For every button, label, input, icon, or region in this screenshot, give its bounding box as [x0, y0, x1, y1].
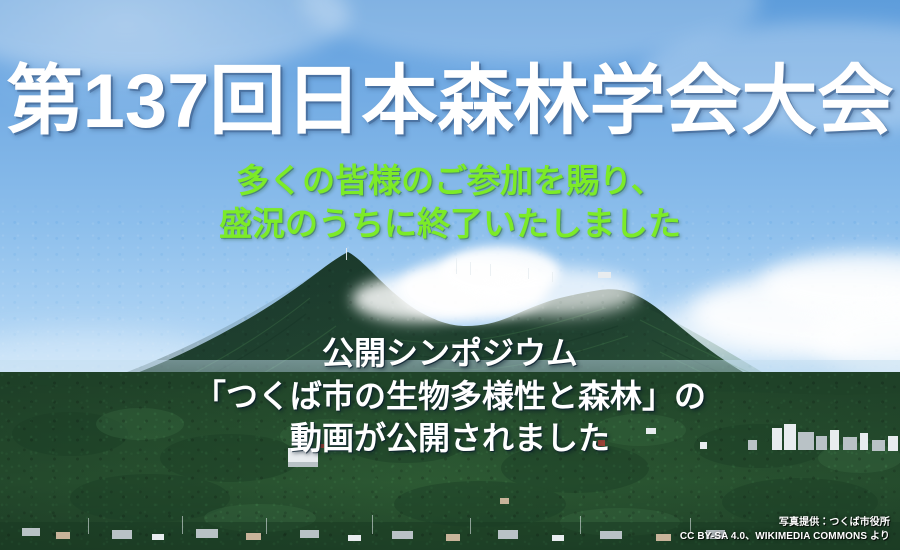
utility-pole-icon [266, 518, 267, 534]
house-roof [392, 531, 413, 539]
symposium-notice-line-2: 「つくば市の生物多様性と森林」の [0, 375, 900, 418]
house-roof [152, 534, 164, 540]
house-roof [656, 534, 671, 541]
conference-banner: 第137回日本森林学会大会 多くの皆様のご参加を賜り、 盛況のうちに終了いたしま… [0, 0, 900, 550]
utility-pole-icon [182, 516, 183, 534]
house-roof [498, 530, 518, 539]
house-roof [300, 530, 319, 538]
house-roof [56, 532, 70, 539]
house-roof [348, 535, 361, 541]
closing-notice: 多くの皆様のご参加を賜り、 盛況のうちに終了いたしました [0, 160, 900, 246]
closing-notice-line-2: 盛況のうちに終了いたしました [0, 203, 900, 246]
photo-credit: 写真提供：つくば市役所 CC BY-SA 4.0、WIKIMEDIA COMMO… [680, 516, 890, 544]
utility-pole-icon [580, 516, 581, 534]
institute-building-base [288, 462, 318, 467]
utility-pole-icon [470, 518, 471, 534]
utility-pole-icon [372, 515, 373, 534]
house-roof [22, 528, 40, 536]
house-roof [552, 535, 564, 541]
house-roof [112, 530, 132, 539]
closing-notice-line-1: 多くの皆様のご参加を賜り、 [0, 160, 900, 203]
page-title: 第137回日本森林学会大会 [0, 64, 900, 140]
house-roof [446, 534, 460, 541]
photo-credit-line-2: CC BY-SA 4.0、WIKIMEDIA COMMONS より [680, 530, 890, 544]
photo-credit-line-1: 写真提供：つくば市役所 [680, 516, 890, 530]
symposium-notice-line-3: 動画が公開されました [0, 417, 900, 460]
house-roof [196, 529, 218, 538]
symposium-notice: 公開シンポジウム 「つくば市の生物多様性と森林」の 動画が公開されました [0, 332, 900, 460]
house-roof [600, 531, 622, 539]
small-building [500, 498, 509, 504]
utility-pole-icon [88, 518, 89, 534]
symposium-notice-line-1: 公開シンポジウム [0, 332, 900, 375]
house-roof [246, 533, 261, 540]
